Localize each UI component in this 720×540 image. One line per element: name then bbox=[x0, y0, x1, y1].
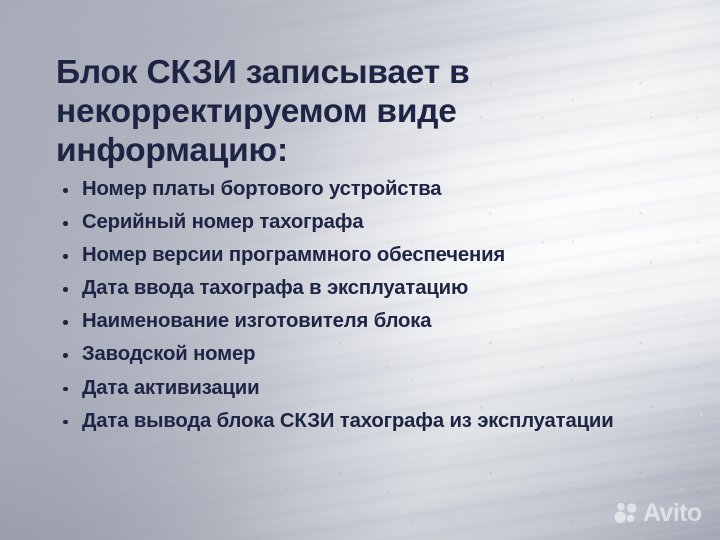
avito-watermark: Avito bbox=[613, 501, 702, 526]
list-item: Заводской номер bbox=[58, 338, 658, 371]
list-item: Дата вывода блока СКЗИ тахографа из эксп… bbox=[58, 405, 658, 438]
list-item: Дата ввода тахографа в эксплуатацию bbox=[58, 272, 658, 305]
list-item: Номер платы бортового устройства bbox=[58, 173, 658, 206]
bullet-list: Номер платы бортового устройства Серийны… bbox=[58, 173, 658, 438]
list-item: Наименование изготовителя блока bbox=[58, 305, 658, 338]
avito-dots-logo-icon bbox=[613, 501, 638, 526]
slide-content: Блок СКЗИ записывает в некорректируемом … bbox=[0, 0, 720, 540]
slide: Блок СКЗИ записывает в некорректируемом … bbox=[0, 0, 720, 540]
list-item: Номер версии программного обеспечения bbox=[58, 239, 658, 272]
list-item: Серийный номер тахографа bbox=[58, 206, 658, 239]
list-item: Дата активизации bbox=[58, 372, 658, 405]
avito-wordmark: Avito bbox=[643, 501, 702, 526]
slide-title: Блок СКЗИ записывает в некорректируемом … bbox=[56, 53, 596, 170]
